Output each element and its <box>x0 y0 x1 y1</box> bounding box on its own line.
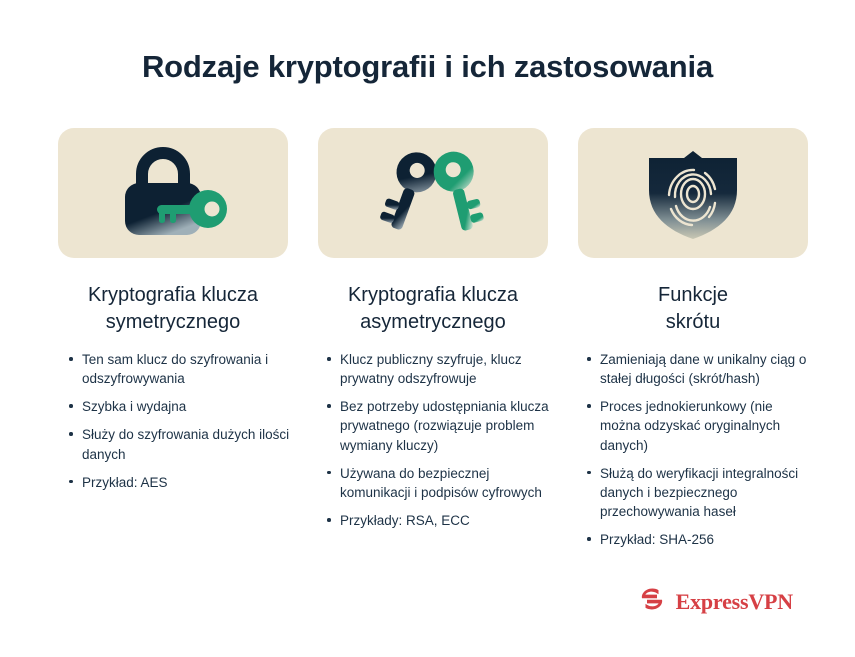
two-keys-icon <box>367 145 499 241</box>
icon-card-hash <box>578 128 808 258</box>
padlock-with-key-icon <box>107 145 239 241</box>
feature-list: Klucz publiczny szyfruje, klucz prywatny… <box>318 350 552 539</box>
list-item: Przykład: SHA-256 <box>582 530 812 549</box>
card-hash-functions: Funkcje skrótu Zamieniają dane w unikaln… <box>578 128 808 558</box>
card-heading: Funkcje skrótu <box>658 282 728 336</box>
feature-list: Ten sam klucz do szyfrowania i odszyfrow… <box>58 350 294 501</box>
list-item: Proces jednokierunkowy (nie można odzysk… <box>582 397 812 454</box>
card-heading: Kryptografia klucza asymetrycznego <box>348 282 518 336</box>
page-title: Rodzaje kryptografii i ich zastosowania <box>0 48 855 85</box>
list-item: Służą do weryfikacji integralności danyc… <box>582 464 812 521</box>
expressvpn-e-mark-icon <box>637 584 667 619</box>
list-item: Bez potrzeby udostępniania klucza prywat… <box>322 397 552 454</box>
card-symmetric-cryptography: Kryptografia klucza symetrycznego Ten sa… <box>58 128 288 501</box>
icon-card-symmetric <box>58 128 288 258</box>
list-item: Klucz publiczny szyfruje, klucz prywatny… <box>322 350 552 388</box>
infographic-page: Rodzaje kryptografii i ich zastosowania <box>0 0 855 657</box>
list-item: Zamieniają dane w unikalny ciąg o stałej… <box>582 350 812 388</box>
list-item: Przykłady: RSA, ECC <box>322 511 552 530</box>
card-heading: Kryptografia klucza symetrycznego <box>88 282 258 336</box>
list-item: Używana do bezpiecznej komunikacji i pod… <box>322 464 552 502</box>
cards-row: Kryptografia klucza symetrycznego Ten sa… <box>58 128 798 558</box>
expressvpn-logo: ExpressVPN <box>637 584 793 619</box>
feature-list: Zamieniają dane w unikalny ciąg o stałej… <box>578 350 812 558</box>
card-asymmetric-cryptography: Kryptografia klucza asymetrycznego Klucz… <box>318 128 548 539</box>
list-item: Służy do szyfrowania dużych ilości danyc… <box>64 425 294 463</box>
brand-name: ExpressVPN <box>676 589 793 615</box>
list-item: Ten sam klucz do szyfrowania i odszyfrow… <box>64 350 294 388</box>
list-item: Szybka i wydajna <box>64 397 294 416</box>
icon-card-asymmetric <box>318 128 548 258</box>
shield-fingerprint-icon <box>627 145 759 241</box>
list-item: Przykład: AES <box>64 473 294 492</box>
